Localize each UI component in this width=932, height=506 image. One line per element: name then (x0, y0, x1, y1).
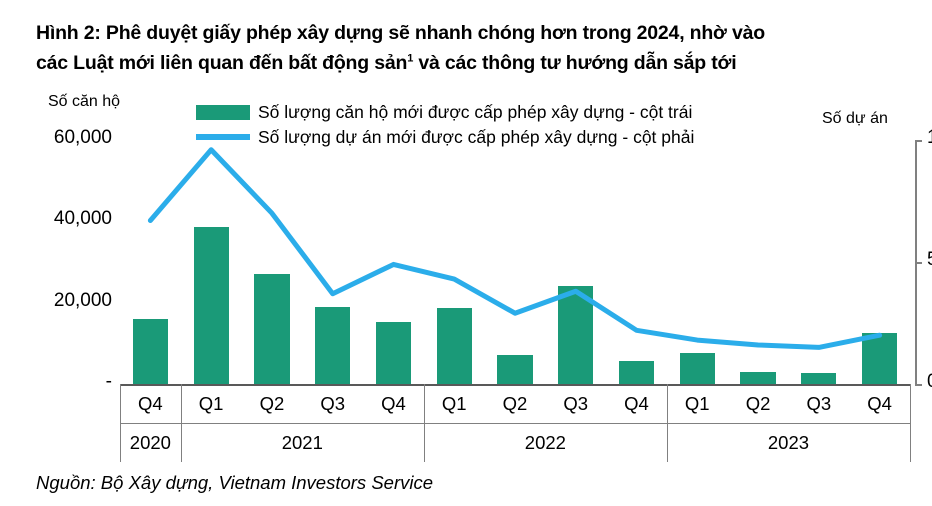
x-axis-quarter-row: Q4Q1Q2Q3Q4Q1Q2Q3Q4Q1Q2Q3Q4 (120, 384, 910, 423)
x-axis: Q4Q1Q2Q3Q4Q1Q2Q3Q4Q1Q2Q3Q4 2020202120222… (120, 384, 910, 462)
x-axis-quarter-label: Q4 (363, 384, 424, 423)
right-axis-tick (915, 140, 922, 142)
right-axis-tick-label: 0 (927, 371, 932, 393)
x-axis-quarter-label: Q2 (728, 384, 789, 423)
x-axis-quarter-label: Q2 (242, 384, 303, 423)
x-axis-quarter-label: Q2 (485, 384, 546, 423)
figure-container: Hình 2: Phê duyệt giấy phép xây dựng sẽ … (0, 0, 932, 506)
left-axis-tick-label: - (106, 371, 112, 393)
x-axis-quarter-label: Q3 (545, 384, 606, 423)
line-series (120, 140, 910, 384)
right-axis-tick (915, 262, 922, 264)
plot-area (120, 140, 910, 384)
x-axis-quarter-label: Q4 (849, 384, 910, 423)
x-axis-quarter-label: Q4 (120, 384, 181, 423)
x-axis-year-label: 2023 (667, 423, 910, 462)
right-axis-tick-label: 100 (927, 127, 932, 149)
x-axis-year-row: 2020202120222023 (120, 423, 910, 462)
x-axis-quarter-label: Q1 (424, 384, 485, 423)
page-title: Hình 2: Phê duyệt giấy phép xây dựng sẽ … (36, 18, 916, 78)
left-axis-tick-label: 60,000 (54, 127, 112, 149)
right-axis-tick-label: 50 (927, 249, 932, 271)
title-line-1: Hình 2: Phê duyệt giấy phép xây dựng sẽ … (36, 22, 765, 44)
legend-item-bars[interactable]: Số lượng căn hộ mới được cấp phép xây dự… (196, 100, 816, 124)
left-axis-tick-label: 20,000 (54, 290, 112, 312)
x-axis-quarter-label: Q1 (181, 384, 242, 423)
x-axis-group-divider (910, 384, 911, 462)
legend-bar-swatch-icon (196, 105, 250, 120)
right-axis-tick (915, 384, 922, 386)
x-axis-quarter-label: Q4 (606, 384, 667, 423)
x-axis-mid-rule (120, 423, 910, 424)
left-axis-caption: Số căn hộ (48, 93, 120, 111)
title-line-2-before: các Luật mới liên quan đến bất động sản (36, 52, 407, 74)
x-axis-quarter-label: Q3 (788, 384, 849, 423)
line-series-path (150, 150, 879, 348)
legend-bar-label: Số lượng căn hộ mới được cấp phép xây dự… (258, 102, 692, 123)
x-axis-quarter-label: Q1 (667, 384, 728, 423)
x-axis-year-label: 2022 (424, 423, 667, 462)
title-line-2-after: và các thông tư hướng dẫn sắp tới (413, 52, 736, 74)
x-axis-year-label: 2020 (120, 423, 181, 462)
x-axis-year-label: 2021 (181, 423, 424, 462)
right-axis-caption: Số dự án (822, 110, 888, 128)
source-note: Nguồn: Bộ Xây dựng, Vietnam Investors Se… (36, 472, 433, 494)
x-axis-quarter-label: Q3 (302, 384, 363, 423)
left-axis-tick-label: 40,000 (54, 208, 112, 230)
